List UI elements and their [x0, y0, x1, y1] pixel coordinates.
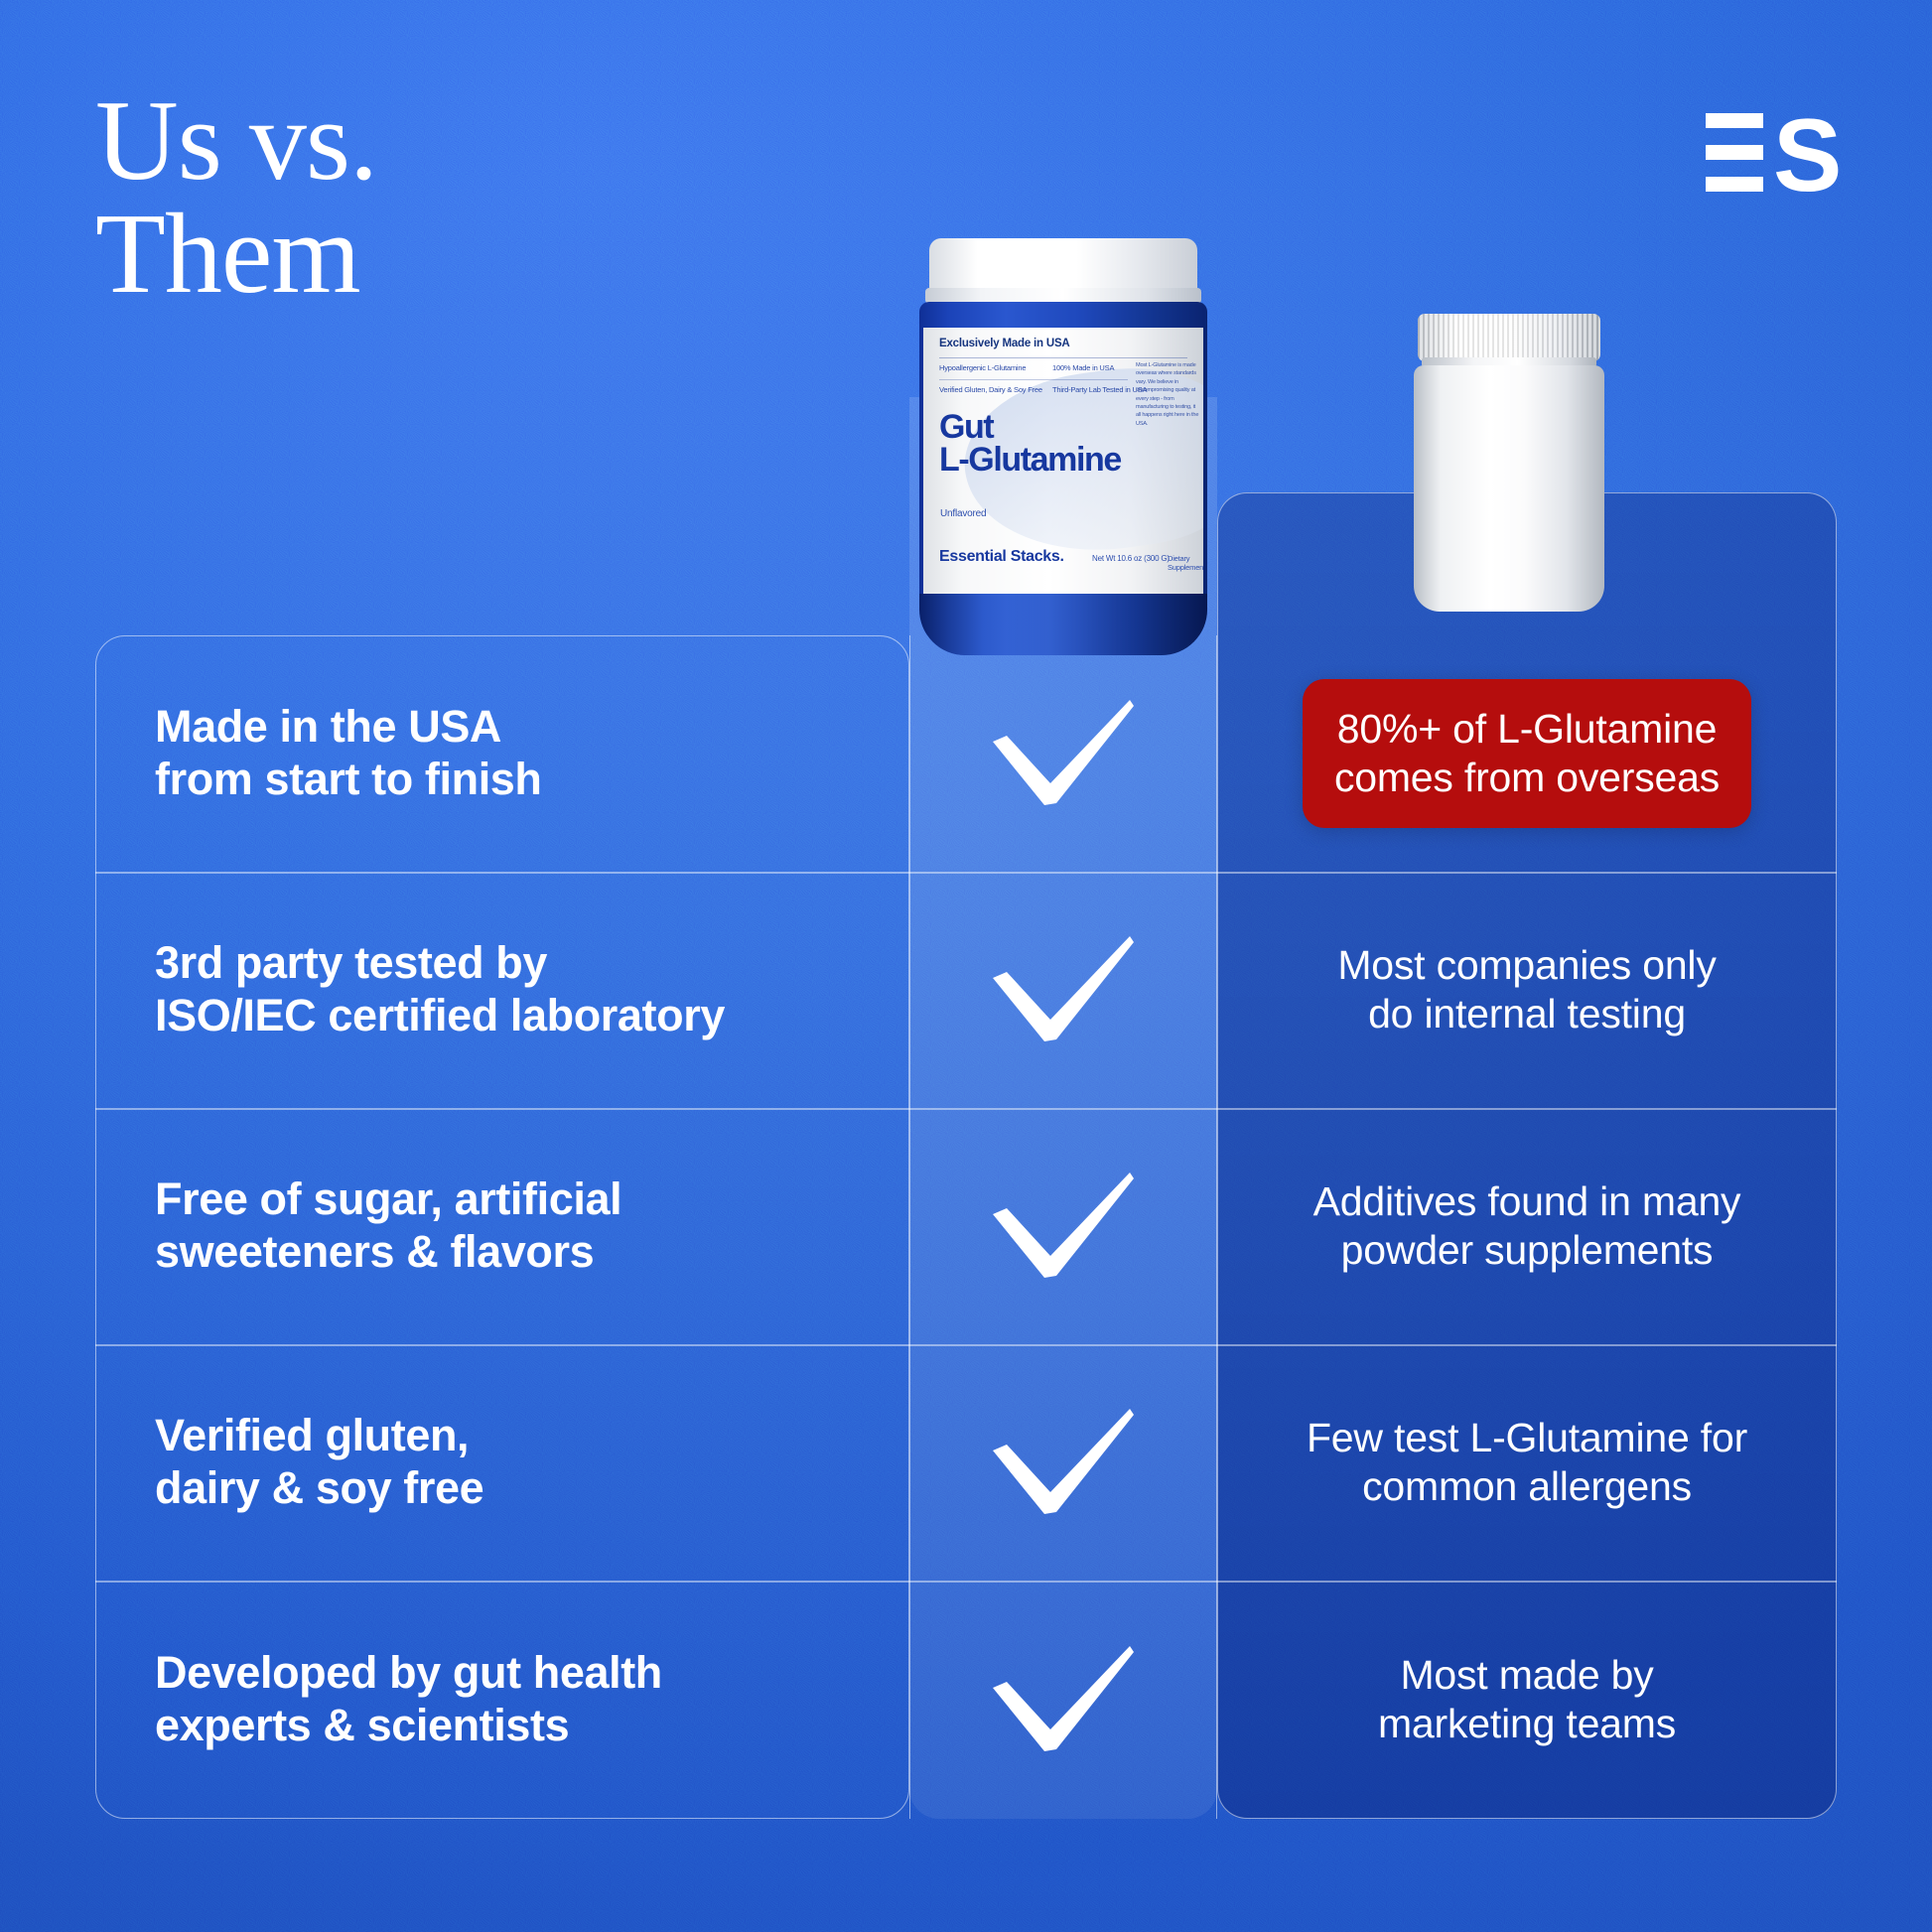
- label-brand: Essential Stacks.: [939, 548, 1064, 566]
- row-divider: [95, 872, 1837, 874]
- label-claim-1: Hypoallergenic L-Glutamine: [939, 363, 1026, 372]
- label-divider-1: [939, 357, 1187, 358]
- row-divider: [95, 1581, 1837, 1583]
- label-claim-3: Verified Gluten, Dairy & Soy Free: [939, 385, 1042, 394]
- them-cell: Few test L-Glutamine for common allergen…: [1217, 1414, 1837, 1511]
- svg-text:S: S: [1773, 107, 1842, 199]
- label-net-weight: Net Wt 10.6 oz (300 G): [1092, 554, 1170, 563]
- label-paragraph: Most L-Glutamine is made overseas where …: [1136, 361, 1201, 428]
- label-supplement-type: Dietary Supplement: [1168, 554, 1203, 572]
- them-cell: Additives found in many powder supplemen…: [1217, 1177, 1837, 1275]
- checkmark-icon: [989, 1405, 1138, 1520]
- page-title: Us vs. Them: [95, 85, 377, 311]
- label-claim-4: Third-Party Lab Tested in USA: [1052, 385, 1147, 394]
- label-divider-2: [939, 379, 1128, 380]
- jar-label: Exclusively Made in USA Hypoallergenic L…: [923, 328, 1203, 594]
- checkmark-icon: [989, 1642, 1138, 1757]
- label-claim-2: 100% Made in USA: [1052, 363, 1114, 372]
- product-jar-gut-l-glutamine: Exclusively Made in USA Hypoallergenic L…: [919, 238, 1207, 655]
- feature-label: 3rd party tested by ISO/IEC certified la…: [95, 937, 909, 1041]
- feature-label: Made in the USA from start to finish: [95, 701, 909, 805]
- bottle-cap: [1418, 314, 1600, 361]
- feature-label: Free of sugar, artificial sweeteners & f…: [95, 1173, 909, 1278]
- checkmark-icon: [989, 696, 1138, 811]
- checkmark-icon: [989, 1169, 1138, 1284]
- us-cell: [909, 932, 1217, 1047]
- comparison-table: Made in the USA from start to finish80%+…: [0, 635, 1932, 1819]
- jar-body: Exclusively Made in USA Hypoallergenic L…: [919, 302, 1207, 655]
- comparison-row: Verified gluten, dairy & soy freeFew tes…: [0, 1344, 1932, 1581]
- them-cell: Most made by marketing teams: [1217, 1651, 1837, 1748]
- feature-label: Verified gluten, dairy & soy free: [95, 1410, 909, 1514]
- label-top-claim: Exclusively Made in USA: [939, 338, 1070, 349]
- them-cell: Most companies only do internal testing: [1217, 941, 1837, 1038]
- us-cell: [909, 1405, 1217, 1520]
- comparison-row: Made in the USA from start to finish80%+…: [0, 635, 1932, 872]
- us-cell: [909, 696, 1217, 811]
- checkmark-icon: [989, 932, 1138, 1047]
- comparison-row: Developed by gut health experts & scient…: [0, 1581, 1932, 1819]
- essential-stacks-logo: S: [1706, 107, 1845, 199]
- label-product-name: Gut L-Glutamine: [939, 411, 1121, 478]
- competitor-bottle: [1414, 314, 1604, 612]
- bottle-body: [1414, 365, 1604, 612]
- row-divider: [95, 1108, 1837, 1110]
- row-divider: [95, 1344, 1837, 1346]
- comparison-row: 3rd party tested by ISO/IEC certified la…: [0, 872, 1932, 1108]
- us-cell: [909, 1642, 1217, 1757]
- comparison-row: Free of sugar, artificial sweeteners & f…: [0, 1108, 1932, 1344]
- alert-badge: 80%+ of L-Glutamine comes from overseas: [1303, 679, 1751, 828]
- feature-label: Developed by gut health experts & scient…: [95, 1647, 909, 1751]
- jar-lid: [929, 238, 1197, 294]
- them-cell: 80%+ of L-Glutamine comes from overseas: [1217, 679, 1837, 828]
- label-flavor: Unflavored: [940, 508, 986, 519]
- us-cell: [909, 1169, 1217, 1284]
